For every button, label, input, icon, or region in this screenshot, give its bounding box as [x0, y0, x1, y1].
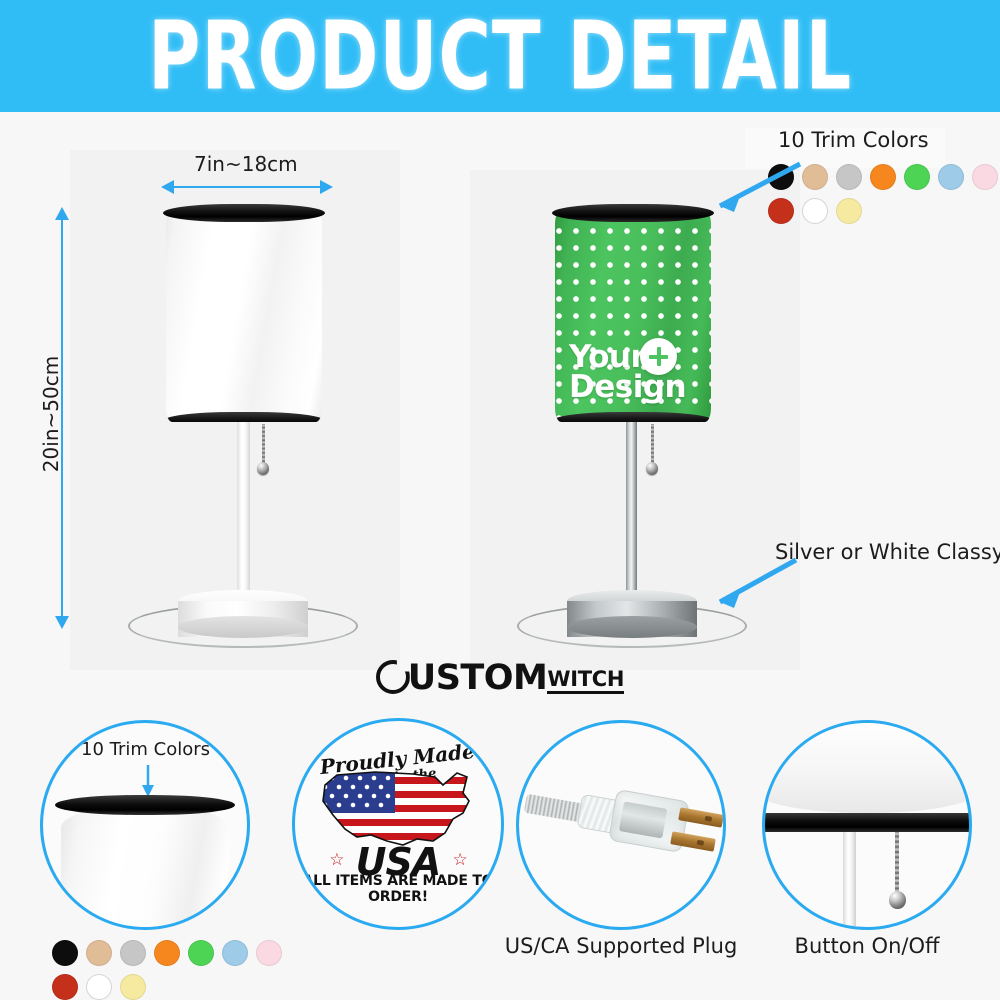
swatch-pink[interactable]	[972, 164, 998, 190]
trim-callout-arrow-icon	[694, 156, 810, 218]
pull-chain[interactable]	[262, 424, 265, 464]
swatch-light-blue[interactable]	[938, 164, 964, 190]
width-arrow-left-icon	[161, 180, 174, 194]
header-banner: PRODUCT DETAIL	[0, 0, 1000, 112]
brand-name-main: USTOM	[408, 661, 548, 696]
pull-chain-ball[interactable]	[257, 462, 269, 475]
panel-trim-colors-circle: 10 Trim Colors	[40, 720, 250, 930]
height-arrow-up-icon	[55, 207, 69, 220]
swatch-tan[interactable]	[86, 940, 112, 966]
pull-chain-ball-closeup[interactable]	[889, 891, 906, 909]
swatch-gray[interactable]	[836, 164, 862, 190]
star-left-icon: ☆	[329, 850, 343, 870]
shade-closeup-surface	[762, 720, 972, 813]
shade-trim-top	[163, 204, 325, 222]
swatch-red[interactable]	[52, 974, 78, 1000]
width-arrow-right-icon	[320, 180, 333, 194]
swatch-white[interactable]	[86, 974, 112, 1000]
design-line-2: Design	[569, 369, 686, 405]
plus-circle-icon[interactable]	[640, 338, 677, 375]
panel-plug-caption: US/CA Supported Plug	[476, 934, 766, 958]
star-right-icon: ☆	[453, 850, 467, 870]
trim-colors-label: 10 Trim Colors	[778, 128, 929, 152]
shade-closeup-surface	[61, 805, 229, 930]
pull-chain[interactable]	[651, 424, 654, 464]
swatch-green[interactable]	[904, 164, 930, 190]
usa-badge: Proudly Made in the	[295, 721, 501, 927]
pull-chain-ball[interactable]	[646, 462, 658, 475]
lamp-shade-white	[166, 210, 322, 422]
shade-surface	[166, 210, 322, 422]
panel-plug-circle	[516, 720, 726, 930]
swatch-black[interactable]	[52, 940, 78, 966]
swatch-green[interactable]	[188, 940, 214, 966]
panel-switch-caption: Button On/Off	[742, 934, 992, 958]
base-finish-callout-arrow-icon	[700, 550, 810, 616]
base-bottom-face	[567, 616, 697, 638]
lamp-shade-green: Your Design	[555, 210, 711, 422]
shade-closeup-trim	[55, 795, 235, 815]
panel-trim-colors-inner-label: 10 Trim Colors	[81, 739, 210, 760]
width-dimension-label: 7in~18cm	[194, 152, 298, 176]
lamp-base-silver	[567, 590, 697, 640]
brand-name-sub: WITCH	[547, 669, 624, 694]
lamp-base-white	[178, 590, 308, 640]
shade-trim-top	[552, 204, 714, 222]
swatch-pink[interactable]	[256, 940, 282, 966]
panel-switch-circle	[762, 720, 972, 930]
plug-internal-contacts	[619, 801, 668, 838]
feature-panels: 10 Trim Colors Proudly Made in the	[0, 712, 1000, 1000]
panel-trim-colors-swatch-grid[interactable]	[52, 940, 302, 1000]
swatch-yellow[interactable]	[836, 198, 862, 224]
shade-trim-bottom	[166, 412, 322, 422]
crescent-c-icon	[376, 660, 410, 694]
swatch-orange[interactable]	[154, 940, 180, 966]
swatch-orange[interactable]	[870, 164, 896, 190]
shade-trim-bottom	[555, 412, 711, 422]
panel-trim-colors-arrow-icon	[139, 765, 157, 799]
usa-order-text: ALL ITEMS ARE MADE TO ORDER!	[295, 873, 501, 905]
brand-logo: USTOM WITCH	[0, 660, 1000, 696]
swatch-yellow[interactable]	[120, 974, 146, 1000]
swatch-light-blue[interactable]	[222, 940, 248, 966]
swatch-gray[interactable]	[120, 940, 146, 966]
width-dimension-line	[172, 186, 324, 188]
panel-made-in-usa-circle: Proudly Made in the	[292, 718, 504, 930]
lamp-pole-closeup	[843, 831, 856, 927]
height-arrow-down-icon	[55, 616, 69, 629]
lamp-pole	[626, 420, 637, 615]
pull-chain-closeup[interactable]	[895, 832, 899, 894]
base-bottom-face	[178, 616, 308, 638]
lamp-pole	[237, 420, 250, 615]
page-title: PRODUCT DETAIL	[148, 9, 852, 104]
shade-closeup-trim	[762, 813, 972, 832]
product-illustration-stage: 7in~18cm 20in~50cm	[0, 112, 1000, 657]
height-dimension-label: 20in~50cm	[39, 354, 63, 474]
